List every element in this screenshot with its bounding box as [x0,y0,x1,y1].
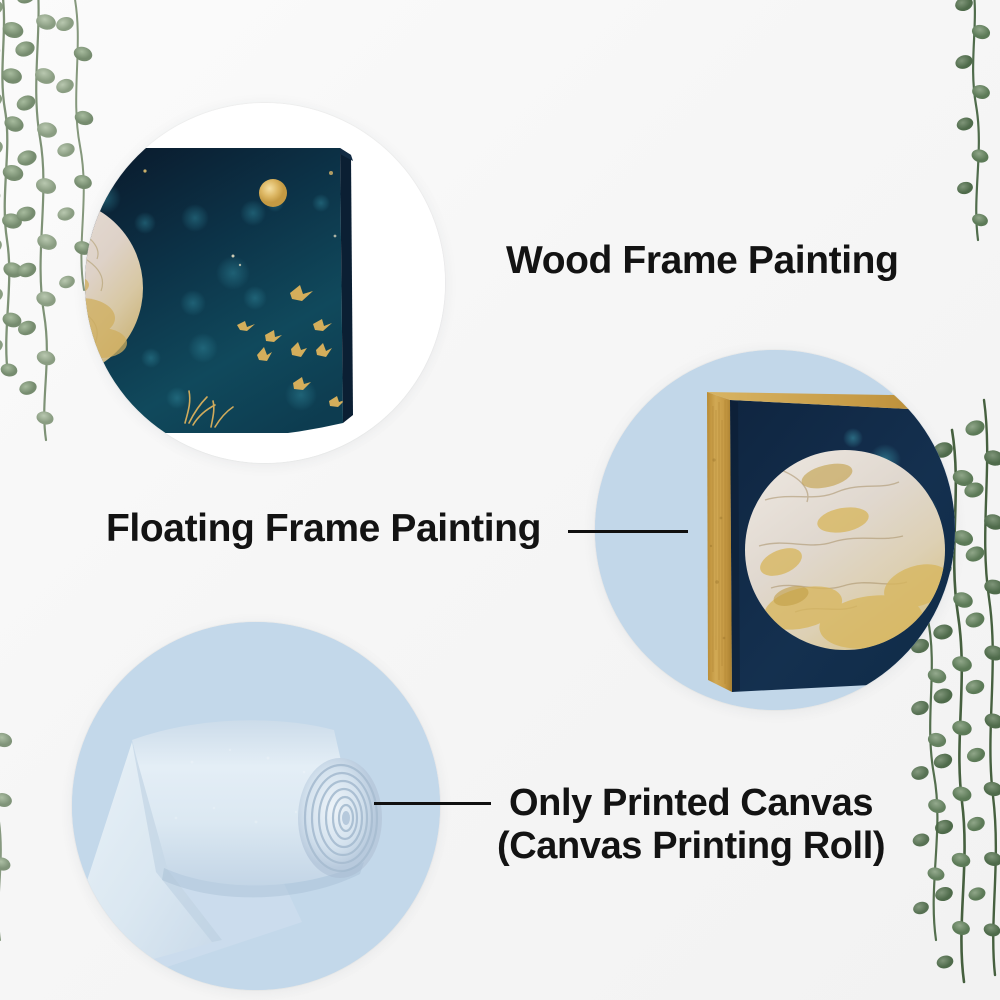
canvas-roll-artwork [72,622,440,990]
infographic-canvas: Wood Frame Painting Floating Frame Paint… [0,0,1000,1000]
label-wood-frame-painting: Wood Frame Painting [506,240,899,281]
leader-line-canvas-roll [374,802,491,805]
label-canvas-roll-line1: Only Printed Canvas [509,782,873,824]
wood-frame-artwork [85,103,445,463]
label-only-printed-canvas: Only Printed Canvas (Canvas Printing Rol… [497,782,885,867]
product-image-wood-frame-painting[interactable] [85,103,445,463]
product-image-canvas-roll[interactable] [72,622,440,990]
label-floating-frame-painting: Floating Frame Painting [106,508,541,549]
leader-line-floating-frame [568,530,688,533]
label-canvas-roll-line2: (Canvas Printing Roll) [497,825,885,868]
